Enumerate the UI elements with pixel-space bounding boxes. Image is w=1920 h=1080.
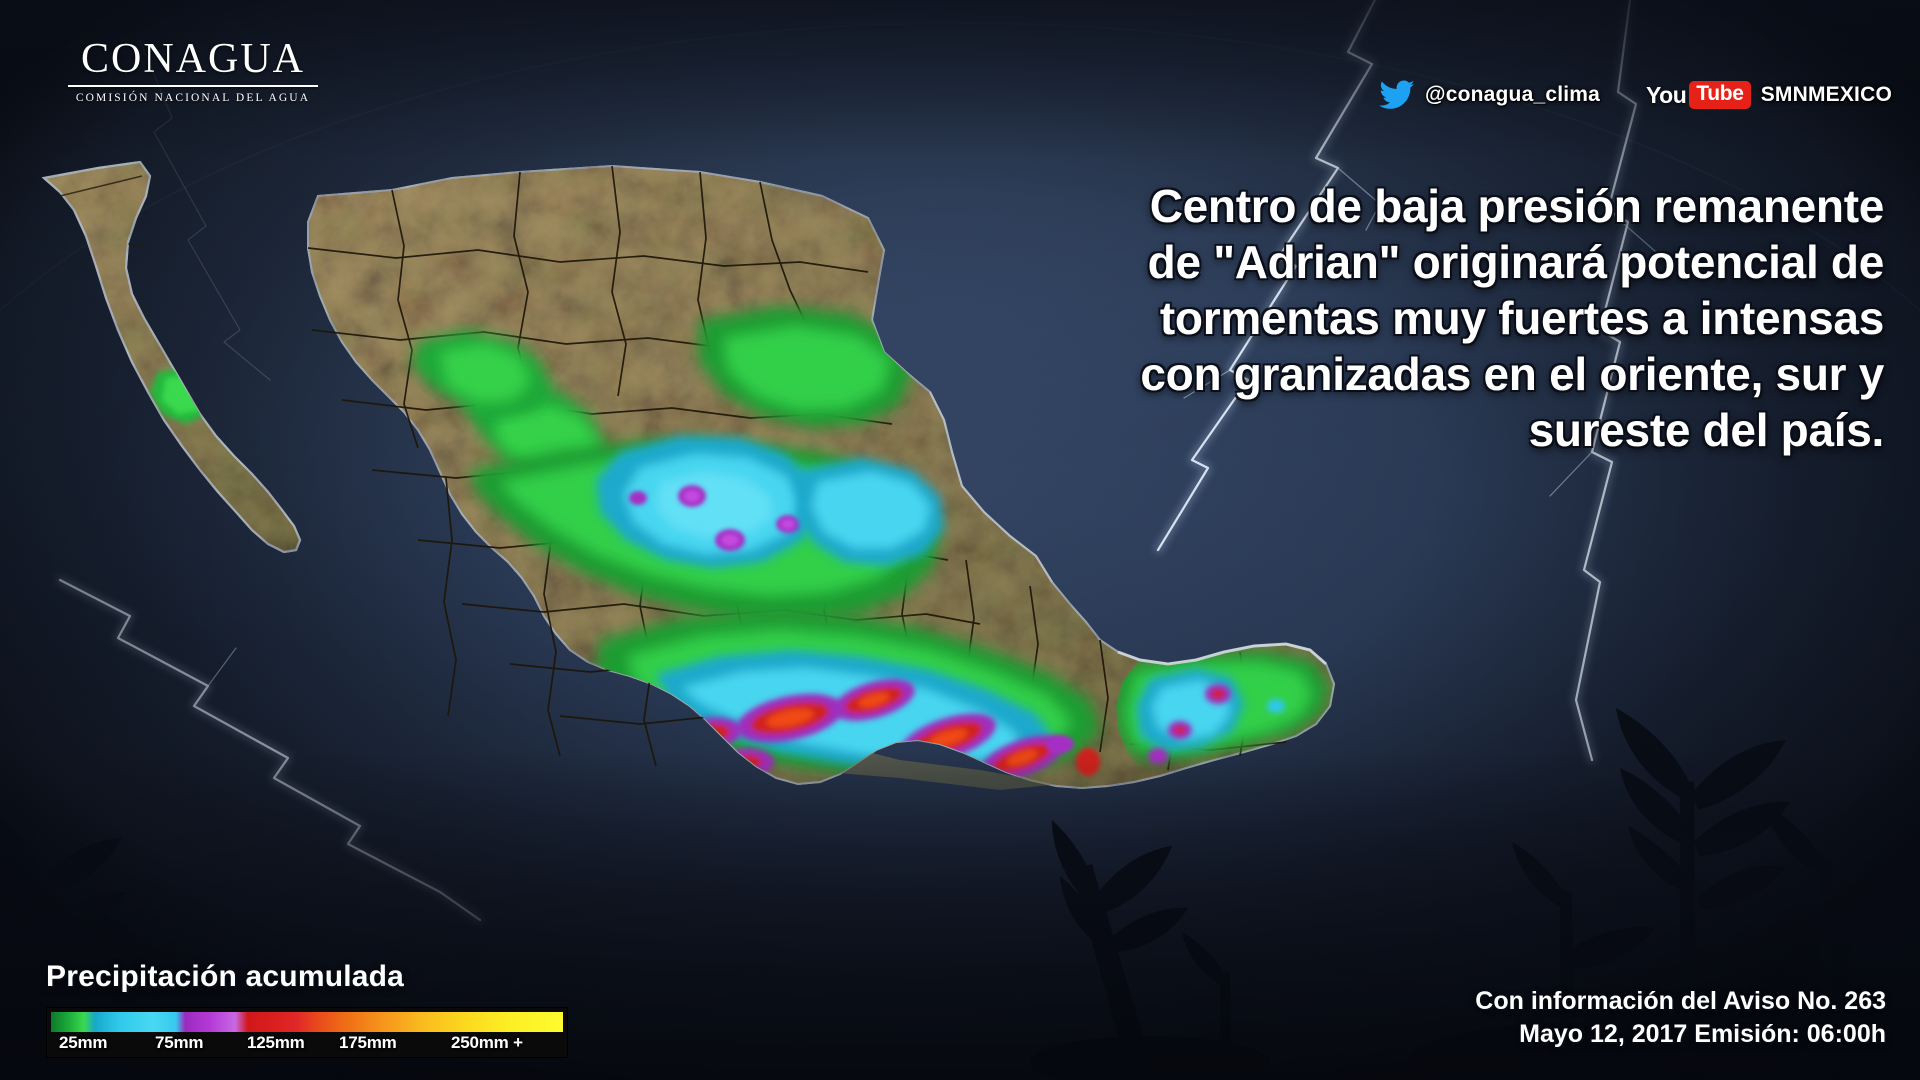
twitter-handle: @conagua_clima	[1425, 83, 1600, 107]
precipitation-legend: Precipitación acumulada 25mm 75mm 125mm …	[46, 960, 606, 1058]
precip-baja-sur	[150, 366, 214, 424]
headline-line-4: con granizadas en el oriente, sur y	[1004, 346, 1884, 402]
conagua-logo: CONAGUA COMISIÓN NACIONAL DEL AGUA	[68, 38, 318, 104]
headline-line-2: de "Adrian" originará potencial de	[1004, 234, 1884, 290]
legend-colorbar-container: 25mm 75mm 125mm 175mm 250mm +	[46, 1007, 568, 1058]
twitter-link[interactable]: @conagua_clima	[1379, 80, 1600, 110]
legend-title: Precipitación acumulada	[46, 960, 606, 994]
credit-line-1: Con información del Aviso No. 263	[1475, 985, 1886, 1018]
headline-text: Centro de baja presión remanente de "Adr…	[1004, 178, 1884, 459]
youtube-you-text: You	[1646, 82, 1686, 109]
headline-line-5: sureste del país.	[1004, 402, 1884, 458]
legend-tick-3: 175mm	[339, 1033, 397, 1053]
youtube-link[interactable]: You Tube SMNMEXICO	[1646, 81, 1892, 109]
youtube-tube-text: Tube	[1689, 81, 1750, 109]
logo-divider	[68, 85, 318, 87]
credit-text: Con información del Aviso No. 263 Mayo 1…	[1475, 985, 1886, 1050]
headline-line-3: tormentas muy fuertes a intensas	[1004, 290, 1884, 346]
precip-field-yucatan	[1112, 650, 1330, 764]
legend-tick-4: 250mm +	[451, 1033, 523, 1053]
headline-line-1: Centro de baja presión remanente	[1004, 178, 1884, 234]
twitter-bird-icon	[1379, 80, 1415, 110]
legend-tick-0: 25mm	[59, 1033, 107, 1053]
logo-wordmark: CONAGUA	[68, 38, 318, 80]
social-links: @conagua_clima You Tube SMNMEXICO	[1379, 80, 1892, 110]
legend-tick-2: 125mm	[247, 1033, 305, 1053]
legend-colorbar	[51, 1012, 563, 1032]
weather-map-graphic: CONAGUA COMISIÓN NACIONAL DEL AGUA @cona…	[0, 0, 1920, 1080]
legend-tick-1: 75mm	[155, 1033, 203, 1053]
youtube-channel: SMNMEXICO	[1761, 83, 1892, 107]
youtube-logo-icon: You Tube	[1646, 81, 1751, 109]
logo-subtitle: COMISIÓN NACIONAL DEL AGUA	[68, 92, 318, 104]
legend-tick-labels: 25mm 75mm 125mm 175mm 250mm +	[51, 1033, 563, 1055]
credit-line-2: Mayo 12, 2017 Emisión: 06:00h	[1475, 1018, 1886, 1051]
